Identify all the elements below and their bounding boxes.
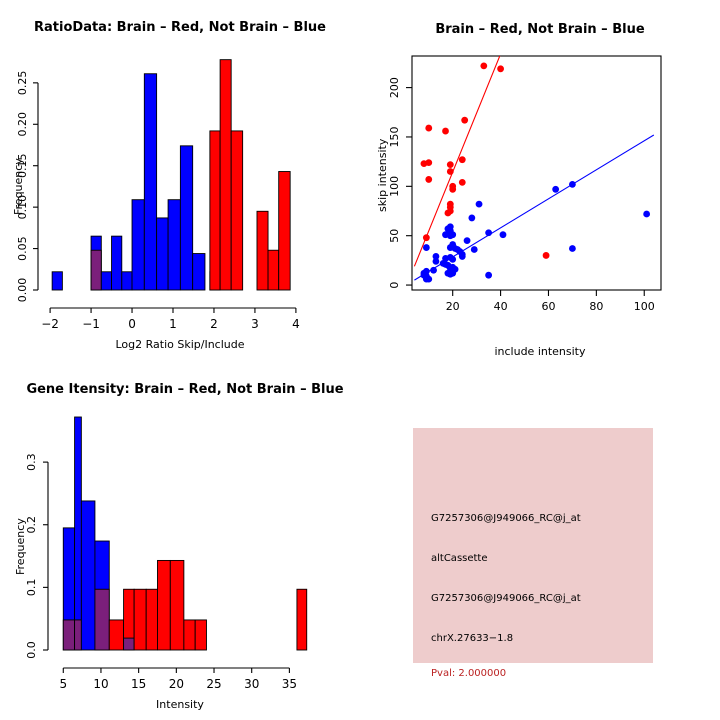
ratio-x-ticklabel: 2: [210, 317, 218, 331]
scatter-point: [500, 231, 507, 238]
gene-x-ticklabel: 35: [282, 677, 297, 691]
ratio-x-ticklabel: 3: [251, 317, 259, 331]
scatter-x-ticklabel: 40: [494, 300, 508, 313]
scatter-point: [425, 125, 432, 132]
ratio-bar: [279, 172, 290, 290]
ratio-x-ticklabel: −1: [82, 317, 100, 331]
scatter-point: [543, 252, 550, 259]
scatter-point: [476, 201, 483, 208]
panel-intensity-scatter: Brain – Red, Not Brain – Blue 0501001502…: [360, 0, 720, 360]
ratio-x-ticklabel: 0: [128, 317, 136, 331]
scatter-x-ticklabel: 80: [589, 300, 603, 313]
gene-x-ticklabel: 10: [93, 677, 108, 691]
gene-bar: [146, 589, 157, 650]
scatter-point: [569, 245, 576, 252]
ratio-bar: [220, 60, 231, 290]
gene-bar: [184, 620, 195, 650]
ratio-histogram-plot: 0.000.050.100.150.200.25−2−101234: [0, 0, 360, 360]
scatter-x-ticklabel: 60: [541, 300, 555, 313]
ratio-bar: [122, 272, 132, 290]
scatter-content: [414, 48, 653, 282]
scatter-point: [449, 231, 456, 238]
gene-bar: [134, 589, 146, 650]
ratio-bar: [193, 254, 205, 290]
scatter-point: [480, 62, 487, 69]
scatter-point: [447, 168, 454, 175]
scatter-ylabel: skip intensity: [376, 139, 389, 212]
scatter-point: [445, 210, 452, 217]
scatter-point: [459, 156, 466, 163]
scatter-point: [449, 256, 456, 263]
ratio-bar: [112, 236, 122, 290]
scatter-point: [423, 234, 430, 241]
ratio-x-ticklabel: 4: [292, 317, 300, 331]
ratio-y-ticklabel: 0.00: [16, 278, 29, 303]
scatter-point: [449, 270, 456, 277]
ratio-bar: [257, 211, 268, 290]
scatter-point: [447, 161, 454, 168]
gene-bar: [124, 638, 135, 650]
scatter-y-ticklabel: 0: [388, 282, 401, 289]
gene-y-ticklabel: 0.1: [25, 579, 38, 597]
gene-x-ticklabel: 30: [244, 677, 259, 691]
ratio-histogram-ylabel: Frequency: [12, 158, 25, 215]
scatter-point: [442, 231, 449, 238]
scatter-point: [461, 117, 468, 124]
scatter-point: [423, 244, 430, 251]
info-line-coordinates: chrX.27633−1.8: [431, 633, 513, 644]
scatter-point: [430, 267, 437, 274]
scatter-x-ticklabel: 100: [634, 300, 655, 313]
info-line-gene-id: G7257306@J949066_RC@j_at: [431, 593, 581, 604]
ratio-bar: [168, 200, 180, 290]
scatter-xlabel: include intensity: [360, 345, 720, 358]
figure-canvas: RatioData: Brain – Red, Not Brain – Blue…: [0, 0, 720, 720]
ratio-bar: [180, 146, 192, 290]
gene-bar: [170, 560, 184, 650]
gene-bar: [109, 620, 123, 650]
gene-bar: [157, 560, 170, 650]
info-line-event-type: altCassette: [431, 553, 488, 564]
info-line-probe-id: G7257306@J949066_RC@j_at: [431, 513, 581, 524]
panel-ratio-histogram: RatioData: Brain – Red, Not Brain – Blue…: [0, 0, 360, 360]
scatter-point: [485, 229, 492, 236]
scatter-point: [442, 128, 449, 135]
info-line-pval: Pval: 2.000000: [431, 668, 506, 679]
ratio-x-ticklabel: −2: [41, 317, 59, 331]
scatter-point: [449, 186, 456, 193]
ratio-bar: [91, 250, 101, 290]
scatter-point: [423, 276, 430, 283]
ratio-bar: [231, 131, 242, 290]
gene-histogram-xlabel: Intensity: [0, 698, 360, 711]
ratio-bar: [101, 272, 111, 290]
gene-x-ticklabel: 25: [206, 677, 221, 691]
ratio-bar: [210, 131, 220, 290]
gene-x-ticklabel: 5: [59, 677, 67, 691]
scatter-point: [425, 176, 432, 183]
gene-x-ticklabel: 20: [169, 677, 184, 691]
ratio-bar: [52, 272, 62, 290]
ratio-bar: [268, 250, 279, 290]
scatter-point: [464, 237, 471, 244]
gene-bar: [195, 620, 206, 650]
gene-bar: [75, 620, 82, 650]
gene-bar: [95, 589, 109, 650]
panel-info: G7257306@J949066_RC@j_at altCassette G72…: [360, 360, 720, 720]
gene-y-ticklabel: 0.0: [25, 641, 38, 659]
ratio-histogram-xlabel: Log2 Ratio Skip/Include: [0, 338, 360, 351]
ratio-bar: [144, 74, 156, 290]
scatter-y-ticklabel: 50: [388, 229, 401, 243]
panel-gene-intensity-histogram: Gene Itensity: Brain – Red, Not Brain – …: [0, 360, 360, 720]
ratio-bar: [132, 200, 144, 290]
ratio-y-ticklabel: 0.25: [16, 71, 29, 96]
scatter-point: [485, 272, 492, 279]
scatter-x-ticklabel: 20: [446, 300, 460, 313]
scatter-point: [497, 65, 504, 72]
scatter-plot: 05010015020020406080100: [360, 0, 720, 360]
scatter-point: [433, 258, 440, 265]
gene-y-ticklabel: 0.3: [25, 453, 38, 471]
info-box: G7257306@J949066_RC@j_at altCassette G72…: [413, 428, 653, 663]
ratio-bar: [157, 218, 168, 290]
gene-bar: [75, 417, 82, 650]
scatter-point: [569, 181, 576, 188]
scatter-point: [425, 159, 432, 166]
gene-histogram-ylabel: Frequency: [14, 518, 27, 575]
ratio-x-ticklabel: 1: [169, 317, 177, 331]
scatter-point: [459, 179, 466, 186]
gene-x-ticklabel: 15: [131, 677, 146, 691]
scatter-point: [459, 253, 466, 260]
gene-bar: [81, 501, 95, 650]
scatter-point: [643, 211, 650, 218]
ratio-y-ticklabel: 0.05: [16, 236, 29, 260]
ratio-y-ticklabel: 0.20: [16, 112, 29, 136]
scatter-point: [471, 246, 478, 253]
scatter-y-ticklabel: 200: [388, 77, 401, 98]
gene-bar: [63, 620, 74, 650]
scatter-y-ticklabel: 100: [388, 176, 401, 197]
scatter-point: [468, 215, 475, 222]
gene-histogram-plot: 0.00.10.20.35101520253035: [0, 360, 360, 720]
gene-bar: [297, 589, 307, 650]
scatter-y-ticklabel: 150: [388, 126, 401, 147]
scatter-point: [552, 186, 559, 193]
